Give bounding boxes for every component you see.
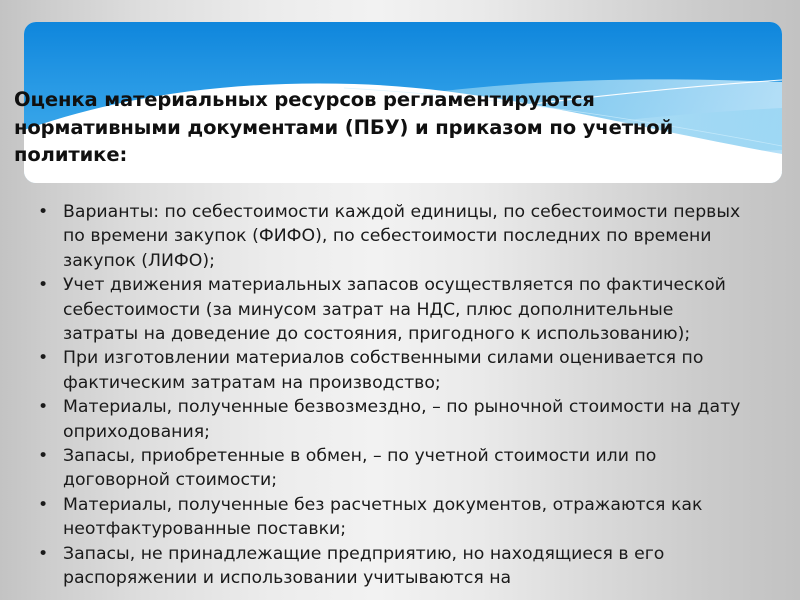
list-item-text: При изготовлении материалов собственными… [63,346,750,395]
bullet-icon: • [38,200,52,224]
list-item: • Запасы, приобретенные в обмен, – по уч… [34,444,750,493]
bullet-icon: • [38,273,52,297]
bullet-icon: • [38,346,52,370]
list-item: • Запасы, не принадлежащие предприятию, … [34,542,750,591]
slide-canvas: Оценка материальных ресурсов регламентир… [0,0,800,600]
list-item-text: Запасы, не принадлежащие предприятию, но… [63,542,750,591]
list-item-text: Запасы, приобретенные в обмен, – по учет… [63,444,750,493]
list-item: • Варианты: по себестоимости каждой един… [34,200,750,273]
list-item-text: Материалы, полученные без расчетных доку… [63,493,750,542]
body-container: • Варианты: по себестоимости каждой един… [34,200,750,591]
slide-title: Оценка материальных ресурсов регламентир… [14,86,734,169]
list-item: • Материалы, полученные без расчетных до… [34,493,750,542]
bullet-icon: • [38,444,52,468]
bullet-list: • Варианты: по себестоимости каждой един… [34,200,750,591]
list-item: • Материалы, полученные безвозмездно, – … [34,395,750,444]
bullet-icon: • [38,493,52,517]
list-item-text: Учет движения материальных запасов осуще… [63,273,750,346]
bullet-icon: • [38,395,52,419]
list-item: • Учет движения материальных запасов осу… [34,273,750,346]
list-item-text: Материалы, полученные безвозмездно, – по… [63,395,750,444]
bullet-icon: • [38,542,52,566]
list-item: • При изготовлении материалов собственны… [34,346,750,395]
list-item-text: Варианты: по себестоимости каждой единиц… [63,200,750,273]
title-container: Оценка материальных ресурсов регламентир… [14,86,734,169]
